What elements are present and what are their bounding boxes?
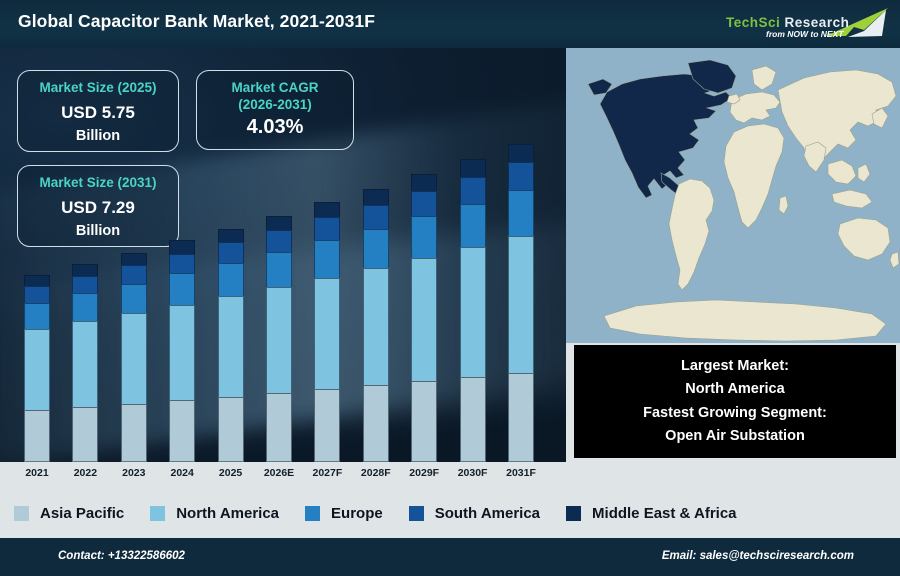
bar-segment [24,286,50,303]
footer-bar: Contact: +13322586602 Email: sales@techs… [0,538,900,576]
legend-label: Europe [331,505,383,522]
x-axis-tick-label: 2026E [256,467,302,479]
bar-column [508,144,534,462]
bar-column [24,275,50,462]
bar-segment [121,404,147,462]
footer-contact: Contact: +13322586602 [58,550,185,562]
bar-segment [218,242,244,263]
bar-segment [363,385,389,462]
bar-segment [508,373,534,462]
legend-item[interactable]: Middle East & Africa [566,505,736,522]
bar-segment [363,189,389,205]
bar-segment [24,303,50,329]
legend-item[interactable]: North America [150,505,279,522]
bar-segment [460,377,486,462]
bar-segment [266,252,292,287]
bar-segment [169,400,195,462]
chart-legend: Asia PacificNorth AmericaEuropeSouth Ame… [0,488,900,538]
bar-segment [314,217,340,240]
bar-segment [72,264,98,276]
bar-segment [121,265,147,283]
bar-segment [363,268,389,385]
legend-item[interactable]: Europe [305,505,383,522]
bar-segment [266,393,292,462]
stat-value: USD 5.75 [18,103,178,123]
world-map [566,48,900,343]
world-map-svg [566,48,900,343]
x-axis-tick-label: 2029F [401,467,447,479]
x-axis-tick-label: 2024 [159,467,205,479]
bar-column [218,229,244,462]
bar-segment [169,273,195,304]
bar-segment [121,284,147,314]
bar-segment [218,229,244,243]
legend-swatch [566,506,581,521]
bar-segment [266,230,292,252]
bar-segment [266,216,292,230]
bar-column [169,240,195,462]
bar-column [460,159,486,462]
x-axis-tick-label: 2030F [450,467,496,479]
legend-label: North America [176,505,279,522]
stacked-bar-chart [0,132,566,462]
bar-column [363,189,389,462]
x-axis-tick-label: 2028F [353,467,399,479]
bar-segment [411,381,437,462]
bar-segment [72,276,98,293]
info-line: Fastest Growing Segment: [643,403,827,424]
bar-segment [508,236,534,372]
techsci-research-logo: TechSci Research from NOW to NEXT [720,4,892,44]
x-axis-tick-label: 2027F [304,467,350,479]
x-axis-tick-label: 2023 [111,467,157,479]
bar-segment [72,293,98,321]
bar-segment [411,174,437,191]
info-line: Largest Market: [681,356,789,377]
x-axis-tick-label: 2025 [208,467,254,479]
bar-segment [314,240,340,277]
stat-title-line1: Market CAGR [197,80,353,97]
stat-title-line2: (2026-2031) [197,97,353,114]
logo-research-text: Research [780,15,849,30]
footer-email: Email: sales@techsciresearch.com [662,550,854,562]
bar-column [411,174,437,462]
bar-column [72,264,98,462]
logo-tech-text: TechSci [726,15,780,30]
logo-tagline: from NOW to NEXT [766,29,843,39]
bar-segment [460,177,486,204]
legend-swatch [409,506,424,521]
bar-segment [121,313,147,403]
bar-segment [314,389,340,462]
logo-wordmark: TechSci Research [726,15,849,30]
infographic-page: Global Capacitor Bank Market, 2021-2031F… [0,0,900,576]
bar-column [121,253,147,462]
key-insights-box: Largest Market:North AmericaFastest Grow… [574,345,896,458]
bar-segment [460,204,486,248]
x-axis-tick-label: 2022 [62,467,108,479]
bar-segment [266,287,292,393]
bar-segment [218,397,244,462]
bar-segment [169,305,195,401]
header-bar: Global Capacitor Bank Market, 2021-2031F… [0,0,900,48]
bar-segment [72,321,98,406]
bar-segment [24,329,50,410]
x-axis-labels: 202120222023202420252026E2027F2028F2029F… [0,462,566,488]
bar-segment [363,229,389,268]
bar-segment [314,278,340,390]
info-line: North America [685,379,784,400]
bar-column [266,216,292,462]
x-axis-tick-label: 2031F [498,467,544,479]
x-axis-tick-label: 2021 [14,467,60,479]
bar-segment [218,296,244,397]
legend-label: Asia Pacific [40,505,124,522]
bar-column [314,202,340,462]
bar-segment [508,190,534,236]
bar-segment [72,407,98,462]
bar-segment [314,202,340,217]
bar-segment [24,275,50,286]
bar-segment [24,410,50,462]
legend-item[interactable]: South America [409,505,540,522]
legend-label: Middle East & Africa [592,505,736,522]
legend-swatch [305,506,320,521]
legend-item[interactable]: Asia Pacific [14,505,124,522]
bar-segment [508,162,534,190]
info-line: Open Air Substation [665,426,805,447]
bar-segment [169,240,195,253]
bar-segment [363,205,389,229]
bar-segment [411,258,437,381]
bar-segment [460,159,486,177]
legend-swatch [150,506,165,521]
bar-segment [508,144,534,162]
bar-segment [121,253,147,265]
bar-segment [460,247,486,377]
bar-segment [169,254,195,274]
page-title: Global Capacitor Bank Market, 2021-2031F [18,11,375,32]
bar-segment [411,216,437,257]
bar-segment [218,263,244,296]
legend-swatch [14,506,29,521]
bar-segment [411,191,437,216]
stat-title: Market Size (2025) [18,80,178,97]
chart-panel: Market Size (2025) USD 5.75 Billion Mark… [0,48,566,488]
legend-label: South America [435,505,540,522]
